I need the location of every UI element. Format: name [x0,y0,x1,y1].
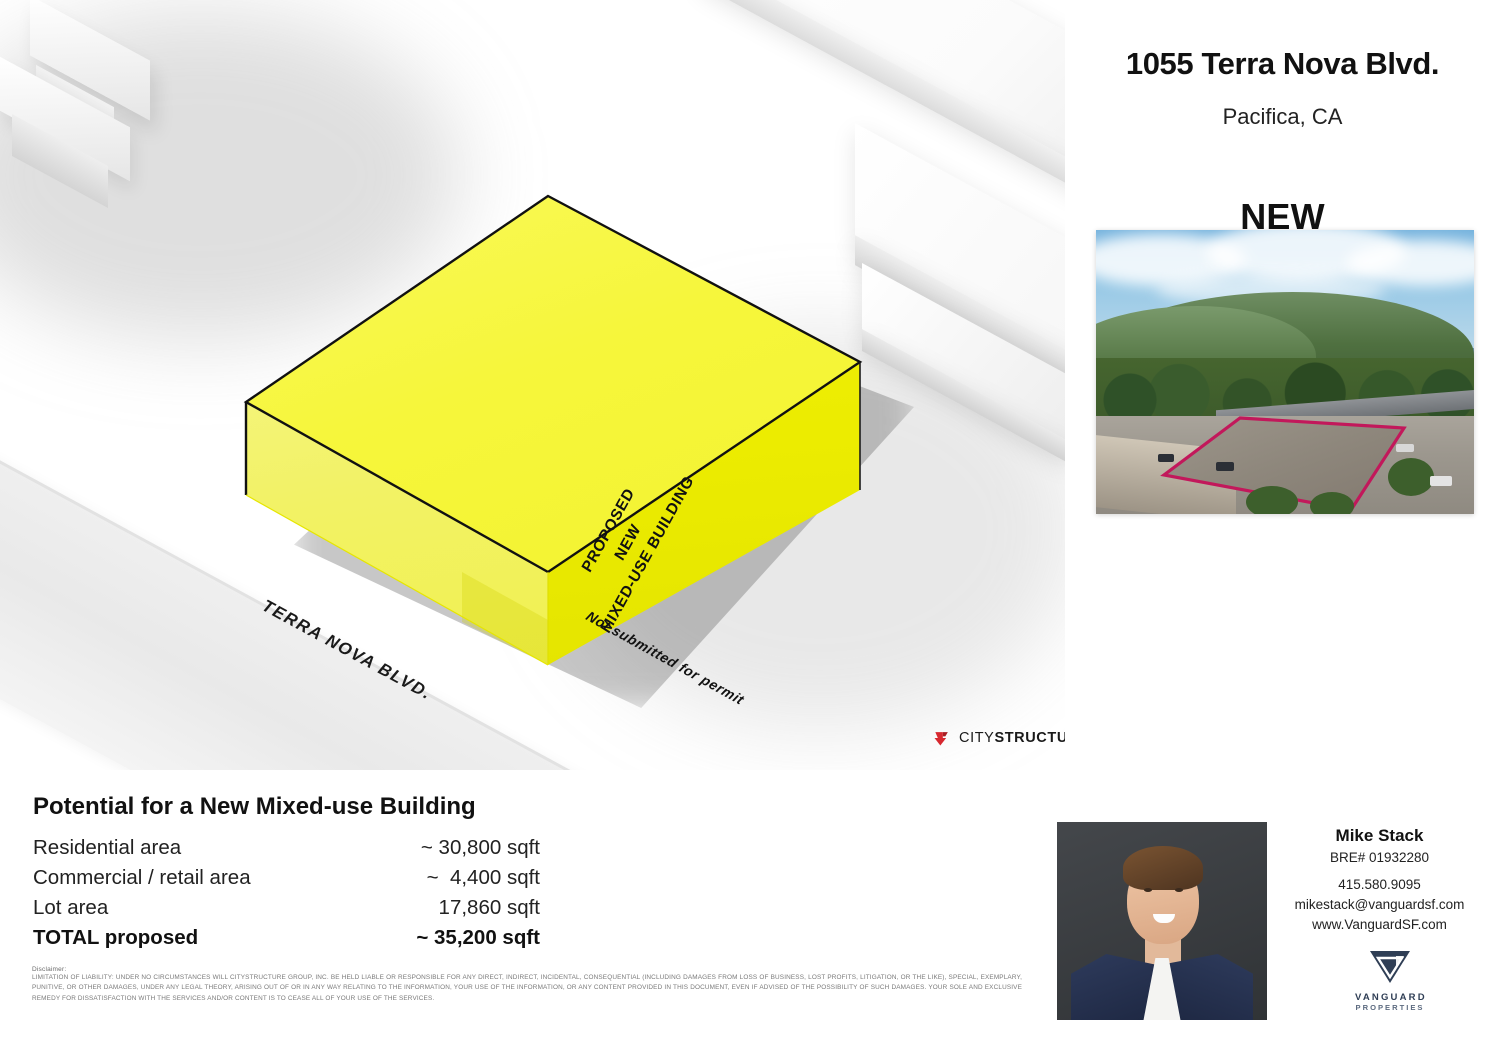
photo-car-1 [1216,462,1234,471]
agent-license: BRE# 01932280 [1272,850,1487,865]
row-label: Lot area [33,893,388,923]
massing-outline [240,190,870,670]
agent-phone[interactable]: 415.580.9095 [1272,875,1487,895]
photo-car-3 [1396,444,1414,452]
photo-car-4 [1430,476,1452,486]
disclaimer-block: Disclaimer: LIMITATION OF LIABILITY: UND… [32,966,1022,1004]
table-row: Commercial / retail area ~ 4,400 sqft [33,863,540,893]
row-label: Residential area [33,833,388,863]
vanguard-logo: VANGUARD PROPERTIES [1355,950,1425,1012]
headshot-hair [1123,846,1203,890]
citystructure-logo: CITYSTRUCTURE [932,728,1065,748]
citystructure-wordmark: CITYSTRUCTURE [959,730,1065,746]
vanguard-subtitle: PROPERTIES [1355,1003,1425,1012]
agent-contact-block: Mike Stack BRE# 01932280 415.580.9095 mi… [1272,826,1487,935]
headshot-eye-right [1175,888,1183,892]
potential-title: Potential for a New Mixed-use Building [33,793,540,821]
proposed-building-massing: PROPOSED NEW MIXED-USE BUILDING Not subm… [240,190,870,670]
potential-table: Residential area ~ 30,800 sqft Commercia… [33,833,540,953]
vanguard-triangle-icon [1369,950,1411,984]
agent-name: Mike Stack [1272,826,1487,846]
agent-website[interactable]: www.VanguardSF.com [1272,915,1487,935]
row-label: TOTAL proposed [33,923,388,953]
citystructure-text-light: CITY [959,730,994,746]
header-panel: 1055 Terra Nova Blvd. Pacifica, CA NEW M… [1065,0,1500,770]
headshot-eye-left [1144,888,1152,892]
potential-section: Potential for a New Mixed-use Building R… [33,793,540,953]
row-value: ~ 35,200 sqft [388,923,540,953]
table-row: Residential area ~ 30,800 sqft [33,833,540,863]
city-subtitle: Pacifica, CA [1065,104,1500,130]
row-label: Commercial / retail area [33,863,388,893]
photo-car-2 [1158,454,1174,462]
disclaimer-body: LIMITATION OF LIABILITY: UNDER NO CIRCUM… [32,973,1022,1004]
row-value: ~ 30,800 sqft [388,833,540,863]
row-value: 17,860 sqft [388,893,540,923]
photo-tree-1 [1388,458,1434,496]
citystructure-mark-icon [932,728,952,748]
table-row: Lot area 17,860 sqft [33,893,540,923]
photo-tree-3 [1310,492,1354,514]
massing-render: PROPOSED NEW MIXED-USE BUILDING Not subm… [0,0,1065,770]
listing-flyer-page: PROPOSED NEW MIXED-USE BUILDING Not subm… [0,0,1500,1060]
vanguard-name: VANGUARD [1355,992,1425,1003]
agent-email[interactable]: mikestack@vanguardsf.com [1272,895,1487,915]
agent-headshot [1057,822,1267,1020]
aerial-site-photo [1096,230,1474,514]
table-row-total: TOTAL proposed ~ 35,200 sqft [33,923,540,953]
photo-tree-2 [1246,486,1298,514]
row-value: ~ 4,400 sqft [388,863,540,893]
page-title: 1055 Terra Nova Blvd. [1065,46,1500,82]
disclaimer-title: Disclaimer: [32,966,1022,973]
citystructure-text-bold: STRUCTURE [994,730,1065,746]
